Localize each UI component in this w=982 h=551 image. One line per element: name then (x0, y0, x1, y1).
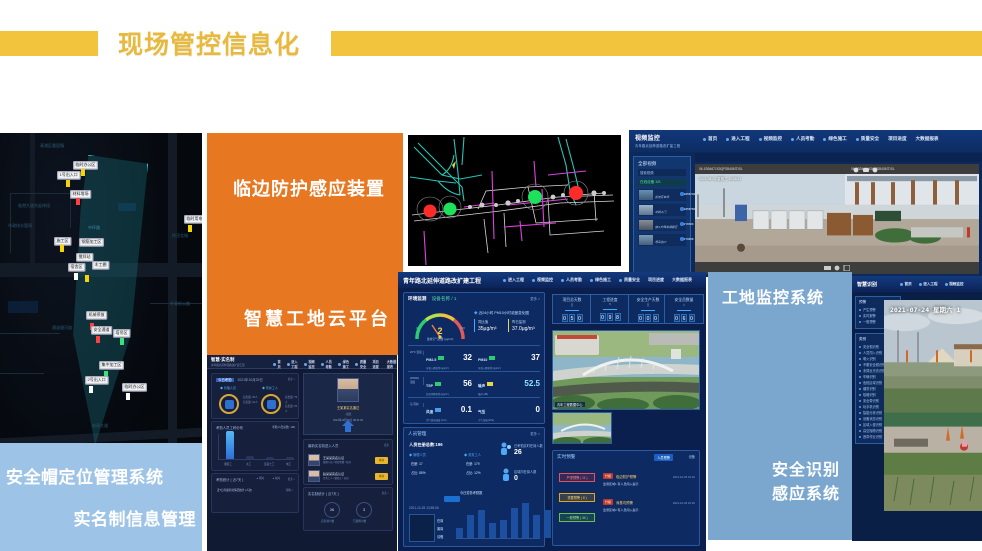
metric-name: TSP (426, 384, 433, 388)
env-monitor-card: 环境监测 设备名称 / 1 更多 > 0 500 2 当前空气质量 (μg/m³… (403, 292, 545, 424)
nav-label: 项目进度 (888, 136, 906, 142)
nav-item-home[interactable]: 首页 (900, 282, 912, 287)
bar (266, 457, 274, 459)
worker-pin[interactable] (81, 169, 85, 176)
map-ghost-label: 临港大道东延伸段 (18, 203, 50, 208)
camera-icon (945, 283, 948, 286)
nav-item-attendance[interactable]: 人员考勤 (561, 277, 582, 283)
video-monitor-logo-text: 视频监控 (635, 136, 660, 142)
nav-label: 人员考勤 (796, 136, 814, 142)
people-group-1-row: 占比: 85% (411, 470, 426, 475)
group-label: 劳务工人 (468, 453, 481, 457)
nav-item-progress[interactable]: 项目进度 (372, 359, 380, 369)
nav-label: 绿色施工 (343, 359, 350, 369)
divider (408, 397, 540, 398)
ai-dashboard-title: 智慧识别 (857, 281, 877, 288)
gate-icon (341, 420, 355, 432)
camera-status-dot (680, 192, 684, 196)
map-ghost-label: 外青松公路 (170, 301, 190, 306)
metric-side-label: 20%RH 湿度 (410, 377, 424, 385)
people-total-value: 196 (436, 442, 443, 447)
nav-label: 视频监控 (537, 277, 553, 283)
onsite-label: 已考勤实时在岗人数 (514, 443, 543, 448)
today-attendance-tab[interactable]: 今日考勤 2021年10月25日 (216, 377, 263, 382)
list-item[interactable]: 王某某实名认证管理人员 / 项目经理 / 在岗 在岗 (308, 452, 388, 468)
metric-desc: 噪声 (dB) (478, 392, 542, 396)
ring-2-rows: 应出勤: 79人 实出勤: 63人 (285, 396, 298, 414)
alert-time: 2021-10-25 10:22 (673, 475, 695, 479)
metric-value: 32 (463, 353, 472, 362)
attendance-ring-workers (261, 394, 281, 414)
site-marker-label[interactable]: 机械停放 (86, 311, 107, 320)
nav-item-quality[interactable]: 质量安全 (355, 359, 366, 369)
row-text: 实出勤: 63人 (285, 405, 298, 414)
site-marker-label[interactable]: 1号出入口 (57, 171, 80, 180)
digit: 5 (569, 314, 575, 322)
camera-status-dot (680, 222, 684, 226)
building-icon (287, 363, 290, 366)
env-card-header: 环境监测 设备名称 / 1 (408, 296, 456, 302)
aerial-image-caption: 青年工程数据中心 (555, 402, 585, 407)
caption-smart-site-cloud: 智慧工地云平台 (244, 305, 391, 331)
page-title: 现场管控信息化 (118, 25, 300, 61)
nav-label: 质量安全 (861, 136, 879, 142)
metric-desc: 空气流动速度 (m/s) (426, 418, 474, 422)
bar (544, 510, 551, 538)
metric-value: 56 (463, 379, 472, 388)
people-management-card: 人员管理 更多 > 人员在册总数:196 ◆ 管理人员 在册: 17 占比: 8… (403, 427, 545, 547)
onsite-people-icon (500, 442, 512, 456)
zone-people-icon (500, 468, 512, 482)
trade-distribution-card: 考勤人员工种分布 考勤人员总数: 196 钢筋工 木工 混凝土工 电工 (211, 421, 299, 471)
site-marker-label[interactable]: 临时用电房 (184, 215, 202, 224)
leaf-icon (823, 138, 826, 141)
stat-card-total-days: 项目总天数 天 0 5 0 (552, 294, 592, 324)
camera-list-item[interactable]: FSB4567D3北侧大门 (638, 204, 686, 216)
shield-icon (856, 138, 859, 141)
caption-safety-recognition: 安全识别感应系统 (772, 458, 840, 506)
bar (467, 515, 474, 538)
attendance-title: 智慧·实名制 青年路北延伸道路改扩建工程 (211, 357, 245, 367)
nav-item-enter-project[interactable]: 进入工程 (503, 277, 524, 283)
project-aerial-image[interactable]: 青年工程数据中心 (552, 330, 700, 410)
divider (677, 310, 691, 311)
video-monitor-topbar: 视频监控 青年路北延伸道路改扩建工程 首页 进入工程 视频监控 人员考勤 绿色施… (629, 130, 982, 152)
stat-card-safety-officers: 安全员数量 人 0 6 0 (664, 294, 704, 324)
camera-status-dot (680, 207, 684, 211)
face-photo (337, 378, 359, 402)
worker-pin[interactable] (126, 393, 130, 400)
nav-label: 进入工程 (291, 359, 298, 369)
bar (511, 508, 518, 538)
severity-general[interactable]: 一般预警 ( 34 ) (559, 513, 595, 522)
nav-item-enter-project[interactable]: 进入工程 (919, 282, 938, 287)
digit: 9 (607, 313, 613, 321)
person-icon (225, 400, 234, 409)
metric-side-label: 20°C 温度 (410, 351, 424, 355)
digit: 0 (645, 314, 651, 322)
stat-card-unit: 天 (629, 303, 667, 307)
site-marker-label[interactable]: 2号出入口 (85, 376, 108, 385)
camera-thumbnail (639, 190, 653, 200)
entry-list-more[interactable]: 更多 (384, 443, 389, 447)
status-chip (435, 408, 441, 412)
avatar (308, 470, 320, 482)
metric-noise: 噪声 噪声 (dB) 52.5 (478, 374, 542, 396)
bar (286, 457, 294, 459)
stage-camera-title: 06-1SB4671S0QFSB4567DSL (699, 167, 743, 171)
alert-title: 临边防护预警 (616, 474, 636, 479)
video-stage-titlebar: 06-1SB4671S0QFSB4567DSL 06-1SB4671S0QFSB… (695, 164, 979, 174)
site-marker-label[interactable]: 塔吊区 (113, 329, 130, 338)
legend-text: 离岗 (259, 477, 264, 480)
nav-label: 首页 (905, 282, 912, 287)
alert-desc: 监测区域2 有人员闯入提示 (603, 508, 639, 512)
nav-label: 大数据报表 (916, 136, 939, 142)
attendance-project-name: 青年路北延伸道路改扩建工程 (211, 363, 245, 367)
nav-item-quality[interactable]: 质量安全 (619, 277, 640, 283)
video-feed-image[interactable]: 2021-08-03 星期二 11:06:11 (695, 174, 979, 262)
ai-recognition-dashboard: 智慧识别 首页 进入工程 视频监控 预警 产生预警 实时报警 一般预警 类别 安… (852, 276, 982, 541)
playback-controls[interactable] (824, 265, 850, 271)
alert-row[interactable]: 升级 临边防护预警 (603, 473, 636, 479)
metric-pressure: 气压 大气压强 (kPa) 0 (478, 400, 542, 422)
nav-item-green[interactable]: 绿色施工 (590, 277, 611, 283)
nav-item-quality[interactable]: 质量安全 (856, 136, 879, 142)
people-group-2-row: 占比: 12% (466, 470, 481, 475)
camera-name: 塔吊出口 (655, 240, 666, 244)
camera-list-sidebar: 全部视频 搜索视频 在线设备 3/5 FSB4567H0出渣区车库 FSB456… (633, 156, 691, 277)
severity-critical[interactable]: 严重预警 ( 11 ) (559, 473, 595, 482)
env-card-title: 环境监测 (408, 296, 426, 301)
person-icon (321, 363, 324, 366)
project-thumbnail[interactable] (552, 412, 612, 444)
digit: 0 (653, 314, 659, 322)
attendance-photo-placeholder (409, 514, 435, 542)
metric-name: PM10 (478, 358, 487, 362)
divider (408, 345, 540, 346)
header-accent-bar-right (331, 31, 982, 56)
building-icon (919, 283, 922, 286)
nav-label: 人员考勤 (566, 277, 582, 283)
status-chip (487, 382, 493, 386)
site-marker-label[interactable]: 钢筋加工区 (79, 238, 104, 247)
camera-list-item[interactable]: FSB4567H0出渣区车库 (638, 189, 686, 201)
chart-axis (456, 538, 540, 539)
metric-pm10: PM10 可吸入颗粒物 (μg/m³) 37 (478, 348, 542, 370)
map-caption-band: 安全帽定位管理系统 实名制信息管理 (0, 443, 202, 551)
digit: 0 (562, 314, 568, 322)
people-total: 人员在册总数:196 (409, 442, 443, 448)
realname-stats-card: 实名制统计 ( 近7天 ) 更多 > 26 实名制人数 3 已退场人数 (303, 487, 393, 531)
face-recognition-card: 王某某实名通过 - 班长 2021年10月25日 08:11:26 (303, 373, 393, 435)
site-marker-label[interactable]: 搅拌站 (76, 253, 93, 262)
group-label: 管理人员 (413, 453, 426, 457)
camera-list-item[interactable]: FZSY6628塔吊出口 (638, 234, 686, 246)
online-device-count: 在线设备 3/5 (638, 179, 686, 186)
map-road (0, 333, 60, 334)
entry-status-badge[interactable]: 在岗 (375, 457, 388, 464)
env-chart-note-text: 近24小时 PM10小时浓度变化图 (479, 311, 529, 315)
air-quality-gauge: 0 500 2 当前空气质量 (μg/m³) (412, 309, 468, 343)
legend-item: 离岗 (437, 526, 443, 531)
status-chip (489, 356, 495, 360)
metric-desc: 大气压强 (kPa) (478, 418, 542, 422)
alert-desc: 监测区域1 有人员闯入提示 (603, 482, 639, 486)
shield-icon (619, 279, 622, 282)
entry-sub: 管理人员 / 项目经理 / 在岗 (323, 460, 372, 464)
nav-item-home[interactable]: 首页 (703, 136, 717, 142)
caption-realname-system: 实名制信息管理 (74, 505, 197, 530)
avatar (308, 454, 320, 466)
nav-item-home[interactable]: 首页 (273, 359, 281, 369)
people-card-more-link[interactable]: 更多 > (530, 431, 540, 436)
nav-item-attendance[interactable]: 人员考勤 (791, 136, 814, 142)
metric-value: 0 (536, 405, 540, 414)
divider (565, 310, 579, 311)
stats-row-link[interactable]: 详情 > (286, 489, 293, 494)
entry-sub: 劳务工人 / 钢筋工 / 在岗 (323, 476, 372, 480)
worker-pin[interactable] (188, 225, 192, 232)
legend-item: 请假 (437, 534, 443, 539)
realname-stats-header: 实名制统计 ( 近7天 ) (308, 491, 339, 496)
gauge-value: 2 (412, 326, 468, 336)
bar (246, 456, 254, 459)
ring-1-label: ◆ 管理人员 (220, 386, 236, 390)
people-group-2-row: 在册: 179 (466, 461, 479, 466)
video-monitor-subbar (695, 153, 982, 162)
camera-search-input[interactable]: 搜索视频 (638, 169, 686, 176)
digit: 0 (600, 313, 606, 321)
sidebar-title: 全部视频 (638, 161, 686, 167)
camera-list-item[interactable]: FZSY6533施工升降机钢筋区 (638, 219, 686, 231)
environment-dashboard: 青年路北延伸道路改扩建工程 进入工程 视频监控 人员考勤 绿色施工 质量安全 项… (398, 272, 706, 551)
env-device-selector[interactable]: 设备名称 / 1 (432, 296, 457, 301)
home-icon (273, 363, 276, 366)
metric-side-label: 东 风向 (410, 403, 424, 407)
alert-time: 2021-10-25 10:20 (673, 501, 695, 505)
video-monitor-logo: 视频监控 青年路北延伸道路改扩建工程 (635, 133, 680, 148)
env-card-more-link[interactable]: 更多 > (530, 296, 540, 301)
attendance-ring-managers (219, 394, 239, 414)
nav-item-progress[interactable]: 项目进度 (888, 136, 906, 142)
stat-card-digits: 0 6 0 (665, 314, 703, 322)
attendance-title-text: 智慧·实名制 (211, 357, 234, 362)
attendance-date: 2021-10-25 13:55:06 (409, 506, 439, 510)
status-chip (438, 356, 444, 360)
camera-thumbnail (639, 220, 653, 230)
caption-edge-protection: 临边防护感应装置 (233, 175, 385, 201)
label-text: 管理人员 (224, 386, 236, 390)
nav-label: 绿色施工 (595, 277, 611, 283)
nav-item-bigdata[interactable]: 大数据报表 (916, 136, 939, 142)
env-chart-note: ◆ 近24小时 PM10小时浓度变化图 (474, 311, 529, 316)
metric-pm25: 20°C 温度 PM2.5 可吸入颗粒物 (μg/m³) 32 (408, 348, 474, 370)
camera-timestamp-overlay: 2021-07-24 星期六 1 (890, 304, 960, 314)
building-icon (503, 279, 506, 282)
person-icon (561, 279, 564, 282)
metric-name: 风速 (426, 410, 433, 414)
legend-on-duty: ● 在岗 (273, 477, 280, 482)
caption-helmet-system: 安全帽定位管理系统 (6, 463, 164, 488)
site-marker-label[interactable]: 临时办公区 (73, 161, 98, 170)
metric-name: 噪声 (478, 384, 485, 388)
metric-desc: 可吸入颗粒物 (μg/m³) (478, 366, 542, 370)
entry-list-header: 最新实名制进入人员 (308, 443, 339, 448)
face-name-text: 王某某实名通过 (337, 406, 359, 410)
camera-name: 出渣区车库 (655, 195, 669, 199)
today-attendance-more[interactable]: 更多 > (288, 377, 295, 381)
zone-value: 0 (514, 475, 518, 482)
face-role: - 班长 (304, 412, 392, 416)
nav-item-bigdata[interactable]: 大数据报表 (672, 277, 692, 283)
entry-status-badge[interactable]: 在岗 (375, 473, 388, 480)
alert-row[interactable]: 升级 深基坑预警 (603, 499, 633, 505)
ai-dashboard-nav: 首页 进入工程 视频监控 (900, 282, 963, 287)
leaf-icon (338, 363, 341, 366)
stat-card-digits: 0 0 0 (629, 314, 667, 322)
nav-label: 首页 (708, 136, 717, 142)
worker-pin[interactable] (74, 273, 78, 280)
today-attendance-card: 今日考勤 2021年10月25日 更多 > ◆ 管理人员 应出勤: 25人 实出… (211, 373, 299, 419)
ai-camera-feed[interactable]: 2021-07-24 星期六 1 (884, 300, 982, 511)
digit: 0 (577, 314, 583, 322)
site-marker-label[interactable]: 材料堆场 (70, 190, 91, 199)
site-marker-label[interactable]: 安全通道 (91, 326, 112, 335)
bar (522, 503, 529, 538)
stat-card-unit: 天 (553, 303, 591, 307)
nav-label: 质量安全 (360, 359, 367, 369)
camera-thumbnail (639, 235, 653, 245)
realname-stats-more[interactable]: 更多 > (382, 491, 389, 495)
people-total-label: 人员在册总数: (409, 442, 436, 447)
nav-item-enter-project[interactable]: 进入工程 (287, 359, 298, 369)
zone-label: 区域内在岗人数 (514, 469, 536, 474)
bar (533, 515, 540, 538)
video-timestamp-overlay: 2021-08-03 星期二 11:06:11 (699, 176, 741, 181)
worker-pin[interactable] (89, 386, 93, 393)
home-icon (900, 283, 903, 286)
alert-badge: 升级 (603, 499, 613, 505)
nav-label: 进入工程 (731, 136, 749, 142)
alert-tab-device[interactable]: 设备 (689, 454, 695, 459)
site-marker-label[interactable]: 木工棚 (92, 261, 109, 270)
worker-pin[interactable] (85, 275, 89, 282)
nav-item-attendance[interactable]: 人员考勤 (321, 359, 332, 369)
slide-root: 现场管控信息化 青浦区重固镇 临港大道东延伸段 市政排水管网 中环路 通波塘河道… (0, 0, 982, 551)
stats-card-more[interactable]: 更多 > (288, 477, 295, 481)
metric-value: 37 (531, 353, 540, 362)
alert-title: 深基坑预警 (616, 500, 633, 505)
people-group-1: ◆ 管理人员 (409, 452, 426, 457)
metric-desc: 总悬浮颗粒物 (μg/m³) (426, 392, 474, 396)
row-text: 应出勤: 79人 (285, 396, 298, 405)
nav-label: 进入工程 (923, 282, 937, 287)
video-monitor-nav: 首页 进入工程 视频监控 人员考勤 绿色施工 质量安全 项目进度 大数据报表 (703, 136, 939, 142)
list-item[interactable]: 赵某某实名认证劳务工人 / 钢筋工 / 在岗 在岗 (308, 468, 388, 484)
nav-label: 大数据报表 (672, 277, 692, 283)
bim-wireframe-svg (408, 135, 621, 266)
realname-attendance-dashboard: 智慧·实名制 青年路北延伸道路改扩建工程 首页 进入工程 视频监控 人员考勤 绿… (207, 355, 397, 551)
worker-pin[interactable] (76, 198, 80, 205)
legend-off-duty: ● 离岗 (257, 477, 264, 482)
stage-toolbar-icons[interactable] (853, 167, 879, 173)
legend-item: 在岗 (437, 518, 443, 523)
people-group-2: ◆ 劳务工人 (464, 452, 481, 457)
digit: 0 (674, 314, 680, 322)
building-icon (726, 138, 729, 141)
face-name: 王某某实名通过 (304, 405, 392, 410)
divider (408, 371, 540, 372)
site-marker-label[interactable]: 临时办公区 (122, 383, 147, 392)
worker-pin[interactable] (96, 336, 100, 343)
x-tick: 电工 (286, 463, 291, 468)
x-tick: 钢筋工 (224, 463, 232, 468)
ai-dashboard-topbar: 智慧识别 首页 进入工程 视频监控 (852, 276, 982, 292)
video-monitor-project-name: 青年路北延伸道路改扩建工程 (635, 143, 680, 148)
trade-card-header: 考勤人员工种分布 (216, 425, 243, 430)
nav-label: 质量安全 (624, 277, 640, 283)
divider (641, 310, 655, 311)
nav-item-video[interactable]: 视频监控 (304, 359, 315, 369)
alert-tab-people[interactable]: 人员预警 (654, 454, 673, 461)
stat-card-safe-days: 安全生产天数 天 0 0 0 (628, 294, 668, 324)
exit-count-circle: 3 (356, 502, 372, 518)
nav-item-video[interactable]: 视频监控 (532, 277, 553, 283)
attendance-chart-title: 今日劳务考勤数 (460, 490, 482, 495)
worker-pin[interactable] (66, 180, 70, 187)
stat-card-unit: % (591, 303, 629, 306)
camera-thumbnail (639, 205, 653, 215)
digit: 8 (615, 313, 621, 321)
leaf-icon (590, 279, 593, 282)
alert-badge: 升级 (603, 473, 613, 479)
worker-pin[interactable] (120, 338, 124, 345)
nav-label: 项目进度 (648, 277, 664, 283)
severity-important[interactable]: 重要预警 ( 8 ) (559, 493, 595, 502)
camera-icon (304, 363, 307, 366)
nav-label: 大数据报表 (387, 359, 397, 369)
nav-item-video[interactable]: 视频监控 (759, 136, 782, 142)
env-nav: 进入工程 视频监控 人员考勤 绿色施工 质量安全 项目进度 大数据报表 (503, 277, 692, 283)
nav-item-progress[interactable]: 项目进度 (648, 277, 664, 283)
header-accent-bar-left (0, 31, 98, 56)
nav-item-green[interactable]: 绿色施工 (338, 359, 349, 369)
nav-item-enter-project[interactable]: 进入工程 (726, 136, 749, 142)
nav-item-bigdata[interactable]: 大数据报表 (387, 359, 397, 369)
site-marker-label[interactable]: 集中加工区 (99, 361, 124, 370)
map-ghost-label: 徐泾北城 (172, 233, 188, 238)
bar (489, 523, 496, 538)
site-marker-label[interactable]: 宿舍区 (68, 263, 85, 272)
nav-item-video[interactable]: 视频监控 (945, 282, 964, 287)
worker-pin[interactable] (60, 245, 64, 252)
metric-value: 0.1 (461, 405, 472, 414)
stat-card-progress: 工程进度 % 0 9 8 (590, 294, 630, 324)
row-text: 实出勤: 21人 (243, 401, 258, 406)
chart-y-axis (218, 434, 219, 460)
people-group-1-row: 在册: 17 (411, 461, 423, 466)
nav-label: 绿色施工 (828, 136, 846, 142)
people-card-header: 人员管理 (408, 431, 426, 437)
person-icon (791, 138, 794, 141)
realname-count-circle: 26 (324, 502, 340, 518)
realname-count-label: 实名制人数 (321, 520, 334, 525)
nav-item-green[interactable]: 绿色施工 (823, 136, 846, 142)
gauge-caption: 当前空气质量 (μg/m³) (412, 337, 468, 341)
metric-name: 气压 (478, 410, 485, 414)
digit: 0 (689, 314, 695, 322)
